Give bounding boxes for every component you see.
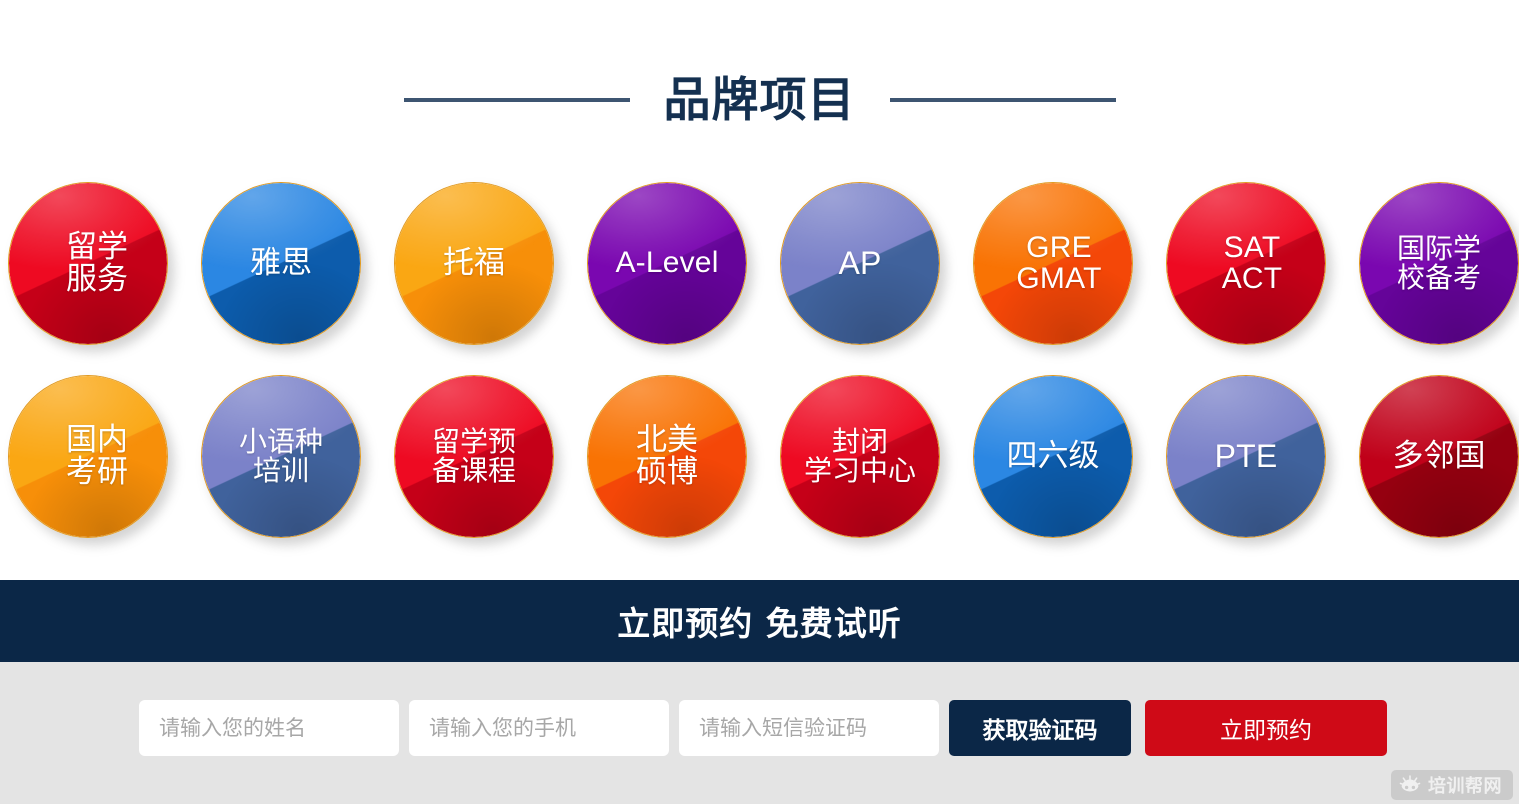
- program-bubble-label: GRE GMAT: [1016, 233, 1101, 294]
- program-row-1: 留学 服务雅思托福A-LevelAPGRE GMATSAT ACT国际学 校备考: [8, 182, 1519, 345]
- program-bubble-label: 四六级: [1007, 441, 1100, 473]
- program-bubble-label: 雅思: [250, 248, 312, 280]
- program-bubble[interactable]: 留学预 备课程: [394, 375, 554, 538]
- get-sms-code-button[interactable]: 获取验证码: [949, 700, 1131, 756]
- sun-face-icon: [1399, 775, 1421, 795]
- program-bubble-label: 国际学 校备考: [1397, 235, 1481, 292]
- program-bubble-label: A-Level: [615, 248, 718, 279]
- program-bubble[interactable]: 雅思: [201, 182, 361, 345]
- program-bubble-label: 小语种 培训: [239, 428, 323, 485]
- program-grid: 留学 服务雅思托福A-LevelAPGRE GMATSAT ACT国际学 校备考…: [8, 182, 1519, 568]
- program-bubble[interactable]: 国内 考研: [8, 375, 168, 538]
- program-bubble[interactable]: 封闭 学习中心: [780, 375, 940, 538]
- program-bubble-label: SAT ACT: [1222, 233, 1283, 294]
- program-bubble[interactable]: GRE GMAT: [973, 182, 1133, 345]
- program-bubble-label: 封闭 学习中心: [804, 428, 916, 485]
- program-bubble-label: 托福: [443, 248, 505, 280]
- phone-input[interactable]: [409, 700, 669, 756]
- program-bubble[interactable]: 北美 硕博: [587, 375, 747, 538]
- program-bubble[interactable]: 四六级: [973, 375, 1133, 538]
- program-bubble[interactable]: AP: [780, 182, 940, 345]
- cta-banner-title: 立即预约 免费试听: [617, 597, 902, 645]
- sms-code-input[interactable]: [679, 700, 939, 756]
- program-bubble[interactable]: 托福: [394, 182, 554, 345]
- program-bubble-label: 北美 硕博: [636, 425, 698, 488]
- program-bubble-label: 国内 考研: [66, 425, 128, 488]
- program-bubble-label: PTE: [1215, 440, 1278, 473]
- program-bubble-label: 多邻国: [1393, 441, 1486, 473]
- submit-booking-button[interactable]: 立即预约: [1145, 700, 1387, 756]
- title-rule-left: [404, 98, 630, 102]
- program-bubble[interactable]: SAT ACT: [1166, 182, 1326, 345]
- booking-form: 获取验证码 立即预约: [139, 700, 1387, 756]
- booking-form-strip: 获取验证码 立即预约: [0, 662, 1519, 804]
- program-bubble[interactable]: 多邻国: [1359, 375, 1519, 538]
- program-bubble[interactable]: 国际学 校备考: [1359, 182, 1519, 345]
- name-input[interactable]: [139, 700, 399, 756]
- program-bubble-label: 留学预 备课程: [432, 428, 516, 485]
- site-watermark: 培训帮网: [1391, 770, 1513, 800]
- page-title-row: 品牌项目: [0, 62, 1519, 138]
- title-rule-right: [890, 98, 1116, 102]
- cta-banner: 立即预约 免费试听: [0, 580, 1519, 662]
- program-bubble[interactable]: 留学 服务: [8, 182, 168, 345]
- program-bubble[interactable]: 小语种 培训: [201, 375, 361, 538]
- page-title: 品牌项目: [664, 77, 856, 124]
- program-bubble-label: AP: [838, 247, 881, 280]
- program-bubble[interactable]: PTE: [1166, 375, 1326, 538]
- watermark-label: 培训帮网: [1428, 772, 1502, 798]
- program-row-2: 国内 考研小语种 培训留学预 备课程北美 硕博封闭 学习中心四六级PTE多邻国: [8, 375, 1519, 538]
- program-bubble[interactable]: A-Level: [587, 182, 747, 345]
- program-bubble-label: 留学 服务: [66, 232, 128, 295]
